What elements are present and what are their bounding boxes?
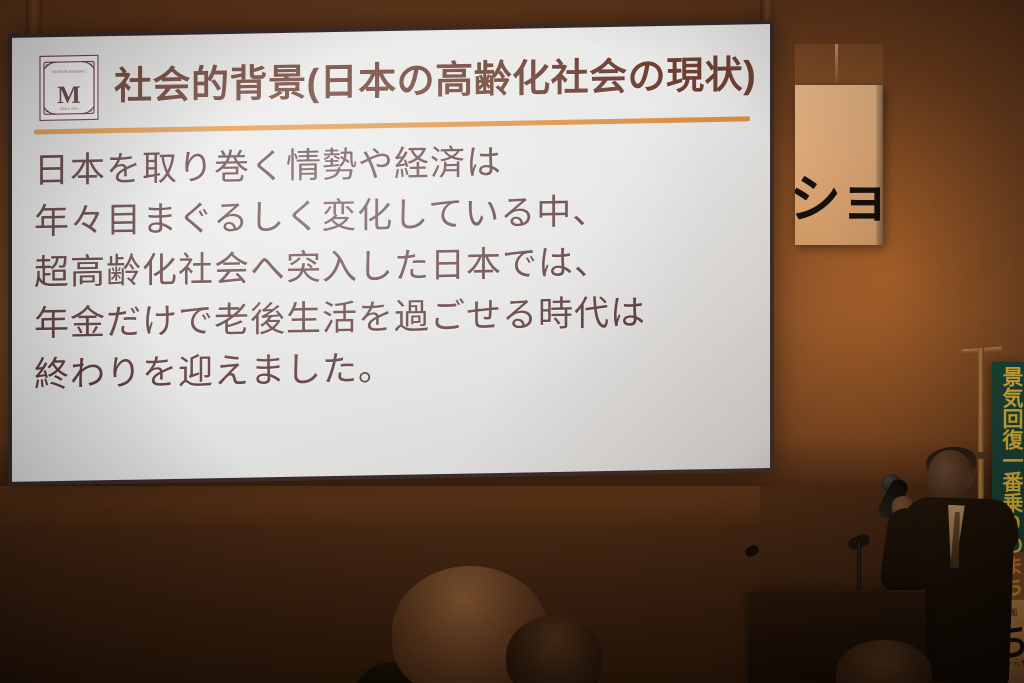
- slide-surface: MOTION MAKING M SINCE 2014 社会的背景(日本の高齢化社…: [12, 24, 770, 482]
- wall-sign-hook: [835, 44, 838, 88]
- speaker-ear: [964, 472, 974, 487]
- projection-screen: MOTION MAKING M SINCE 2014 社会的背景(日本の高齢化社…: [8, 20, 774, 486]
- wall-lower-ledge: [0, 486, 760, 526]
- presentation-photo-scene: MOTION MAKING M SINCE 2014 社会的背景(日本の高齢化社…: [0, 0, 1024, 683]
- wall-sign: ション: [795, 85, 883, 245]
- svg-text:SINCE 2014: SINCE 2014: [60, 107, 79, 111]
- slide-body: 日本を取り巻く情勢や経済は 年々目まぐるしく変化している中、 超高齢化社会へ突入…: [34, 132, 758, 401]
- slide-title: 社会的背景(日本の高齢化社会の現状): [114, 56, 756, 106]
- svg-text:MOTION MAKING: MOTION MAKING: [52, 69, 86, 75]
- microphone-stand: [857, 541, 861, 597]
- wall-sign-text: ション: [795, 157, 883, 232]
- brand-logo-icon: MOTION MAKING M SINCE 2014: [38, 52, 100, 123]
- svg-text:M: M: [57, 82, 81, 109]
- wall-sign-upper-panel: [795, 44, 883, 88]
- banner-pole-clamp: [974, 452, 988, 459]
- slide-header: MOTION MAKING M SINCE 2014 社会的背景(日本の高齢化社…: [38, 32, 760, 131]
